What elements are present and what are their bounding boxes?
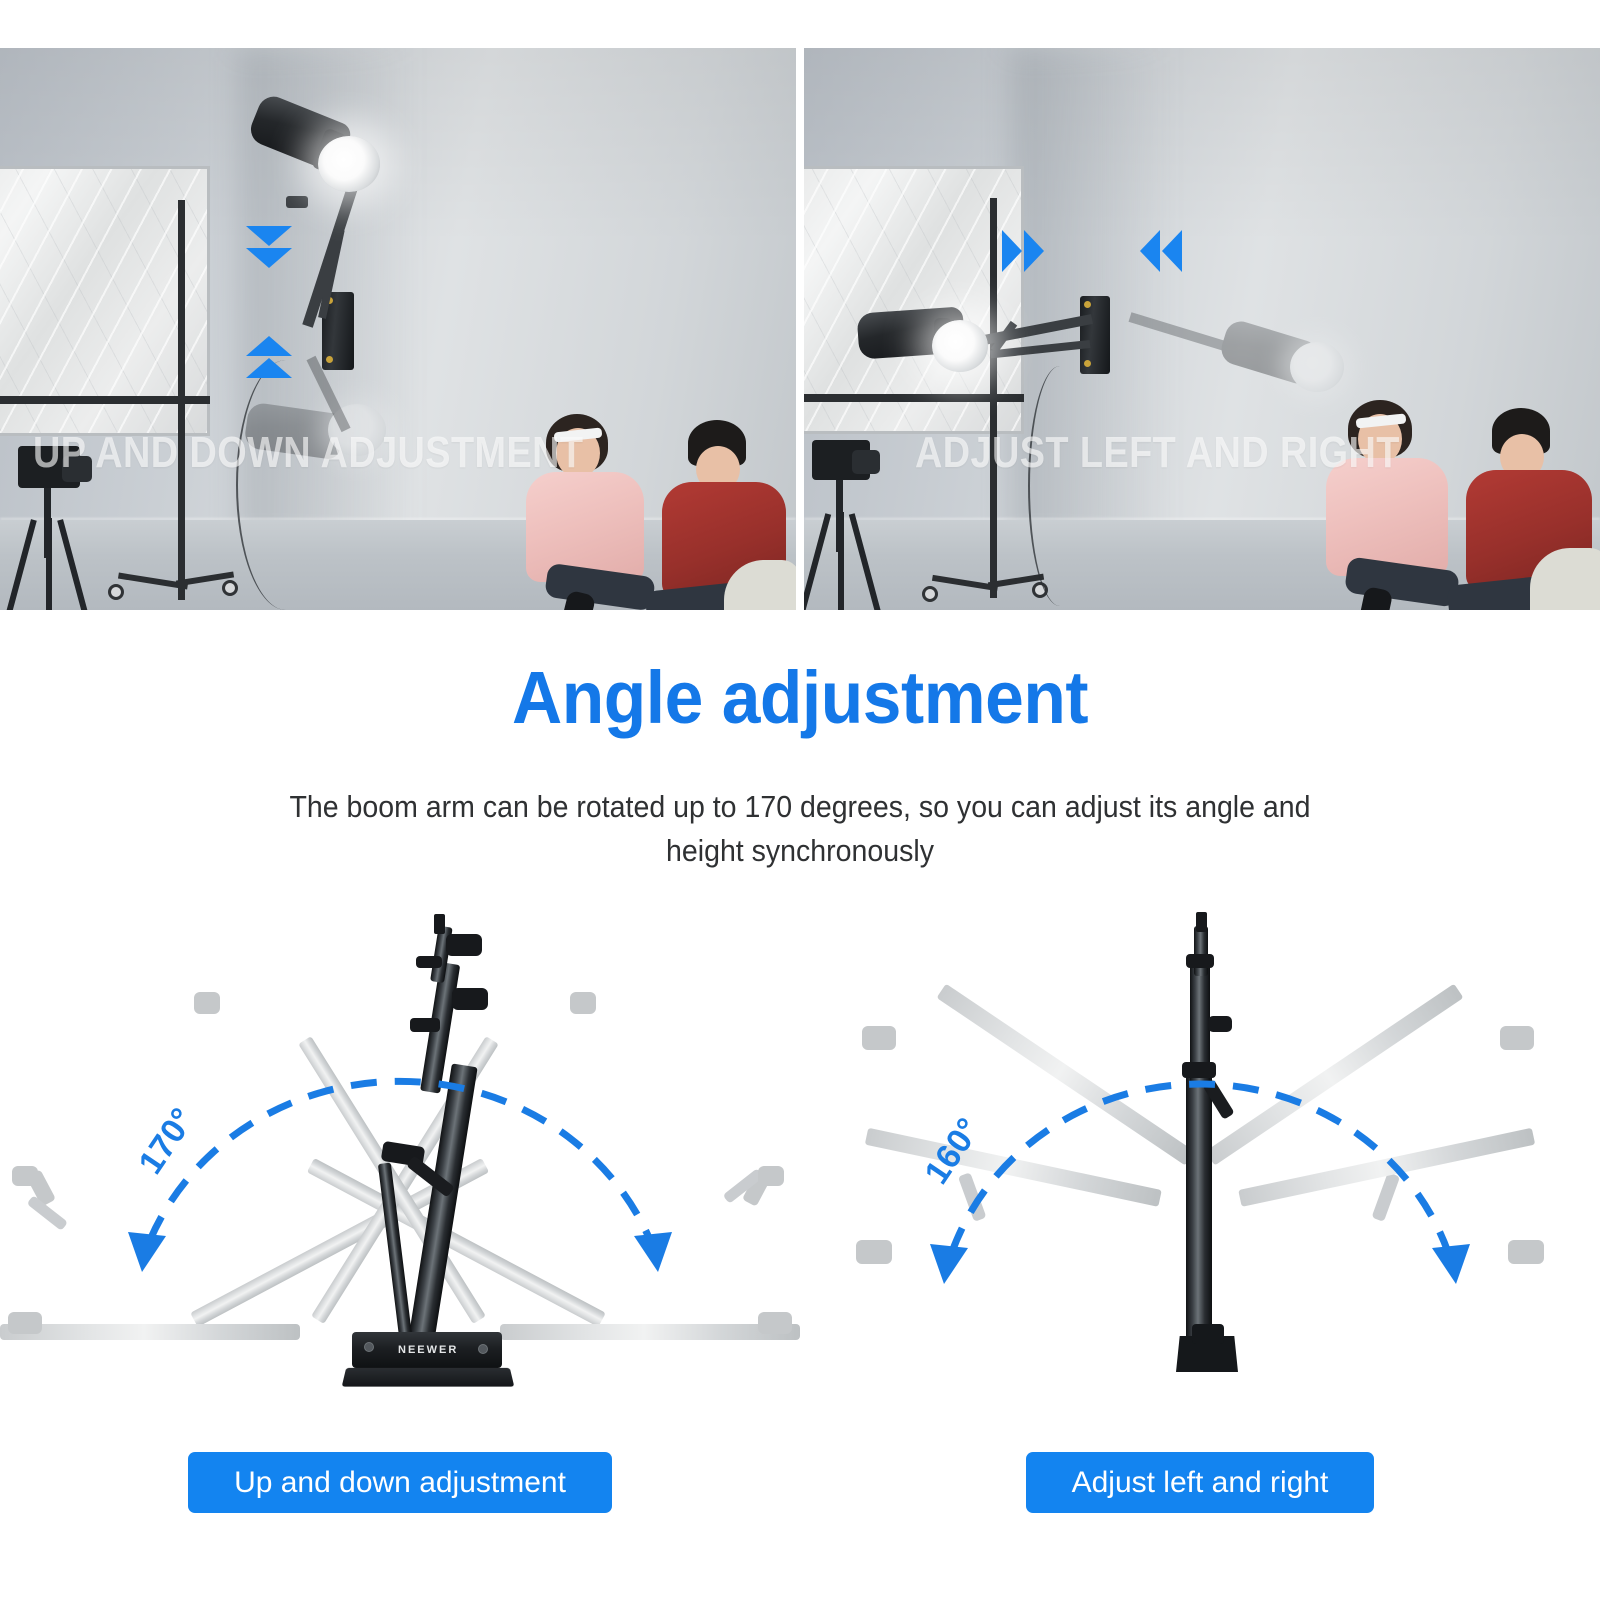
model-red [660,420,796,610]
caption-cell-left: Up and down adjustment [0,1452,800,1513]
diagram-left-right: 160° [800,900,1600,1400]
mount-bolt-bottom [1084,360,1091,367]
scrim-caster-right [222,580,238,596]
power-cable [1028,366,1092,606]
camera-lens [852,450,880,474]
chevron-double-right-group [1002,230,1044,272]
mount-bolt-bottom [326,356,333,363]
tripod-leg-center [46,518,52,610]
scrim-crossbar [0,396,210,404]
tripod-leg-center [838,512,844,610]
page-title: Angle adjustment [48,655,1552,740]
chevron-up-icon [246,358,292,378]
chevron-left-icon [1140,230,1160,272]
power-cable [236,360,336,610]
angle-arc-160 [800,900,1600,1400]
model-red [1464,408,1600,610]
chevron-right-icon [1002,230,1022,272]
photo-panel-up-down: UP AND DOWN ADJUSTMENT [0,48,796,610]
chevron-down-icon [246,226,292,246]
caption-button-left-right[interactable]: Adjust left and right [1026,1452,1375,1513]
chevron-down-icon [246,248,292,268]
photo-panel-row: UP AND DOWN ADJUSTMENT [0,48,1600,610]
scrim-crossbar [804,394,1024,402]
scrim-caster-left [108,584,124,600]
photo-overlay-caption: ADJUST LEFT AND RIGHT [915,431,1400,475]
diagram-row: NEEWER 170° [0,900,1600,1400]
product-feature-page: UP AND DOWN ADJUSTMENT [0,0,1600,1600]
page-subtitle: The boom arm can be rotated up to 170 de… [276,785,1325,873]
photo-panel-left-right: ADJUST LEFT AND RIGHT [804,48,1600,610]
model-pink-sweater [526,472,644,582]
angle-arc-170 [0,900,800,1400]
chevron-double-down-group [246,226,292,268]
mount-bolt-top [1084,301,1091,308]
strobe-reflector-dish [318,136,380,192]
ghost-strobe-swung [1130,284,1330,394]
ghost-strobe-dish [1290,342,1344,392]
caption-button-up-down[interactable]: Up and down adjustment [188,1452,612,1513]
photo-overlay-caption: UP AND DOWN ADJUSTMENT [33,431,583,475]
caption-cell-right: Adjust left and right [800,1452,1600,1513]
chevron-up-icon [246,336,292,356]
chevron-double-left-group [1140,230,1182,272]
diagram-up-down: NEEWER 170° [0,900,800,1400]
chevron-left-icon [1162,230,1182,272]
strobe-reflector-dish [932,320,988,372]
chevron-double-up-group [246,336,292,378]
chevron-right-icon [1024,230,1044,272]
scrim-caster-left [922,586,938,602]
caption-button-row: Up and down adjustment Adjust left and r… [0,1452,1600,1513]
boom-arm-clamp [286,196,308,208]
